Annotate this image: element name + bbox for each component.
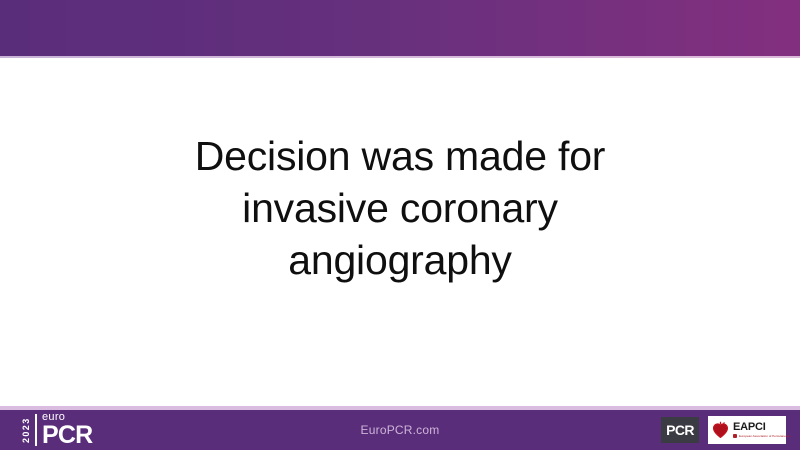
- title-line-2: invasive coronary: [90, 182, 710, 234]
- title-line-1: Decision was made for: [90, 130, 710, 182]
- eapci-text-block: EAPCI European Association of Percutaneo…: [733, 422, 791, 438]
- slide-canvas: Decision was made for invasive coronary …: [0, 0, 800, 450]
- pcr-badge: PCR: [661, 417, 699, 443]
- eapci-name: EAPCI: [733, 422, 791, 433]
- esc-mark-icon: [733, 434, 737, 438]
- title-line-3: angiography: [90, 234, 710, 286]
- eapci-subtitle-row: European Association of Percutaneous Car…: [733, 433, 791, 438]
- footer-logo-group: PCR EAPCI European Association of Percut…: [661, 410, 786, 450]
- eapci-badge: EAPCI European Association of Percutaneo…: [708, 416, 786, 444]
- slide-title: Decision was made for invasive coronary …: [90, 130, 710, 286]
- eapci-subtitle: European Association of Percutaneous Car…: [739, 435, 791, 438]
- heart-icon: [711, 421, 730, 440]
- top-decorative-band: [0, 0, 800, 56]
- slide-body: Decision was made for invasive coronary …: [0, 58, 800, 408]
- pcr-badge-label: PCR: [666, 422, 694, 438]
